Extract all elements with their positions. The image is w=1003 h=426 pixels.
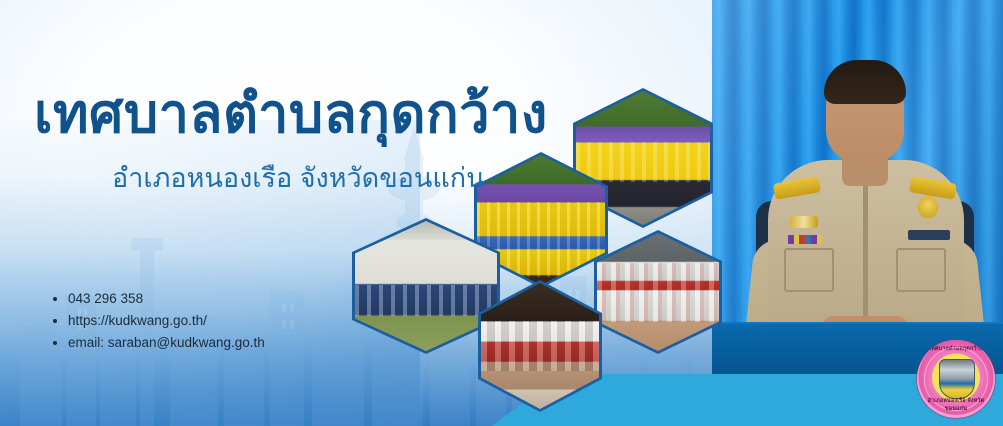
seal-text-bottom: อำเภอหนองเรือ จังหวัดขอนแก่น	[917, 397, 995, 413]
photo-white-shirt-wheelchair	[597, 233, 719, 351]
municipality-seal: เทศบาลตำบลกุดกว้าง อำเภอหนองเรือ จังหวัด…	[917, 340, 995, 418]
page-subtitle: อำเภอหนองเรือ จังหวัดขอนแก่น	[112, 156, 485, 199]
contact-info: 043 296 358 https://kudkwang.go.th/ emai…	[50, 288, 265, 354]
municipality-banner: เทศบาลตำบลกุดกว้าง อำเภอหนองเรือ จังหวัด…	[0, 0, 1003, 426]
hex-photo-right-middle[interactable]	[594, 230, 722, 354]
hexagon-photo-collage	[0, 0, 1003, 426]
page-title: เทศบาลตำบลกุดกว้าง	[34, 86, 548, 143]
contact-email[interactable]: email: saraban@kudkwang.go.th	[66, 332, 265, 354]
hex-photo-right-middle-inner	[597, 233, 719, 351]
contact-phone: 043 296 358	[66, 288, 265, 310]
contact-website[interactable]: https://kudkwang.go.th/	[66, 310, 265, 332]
